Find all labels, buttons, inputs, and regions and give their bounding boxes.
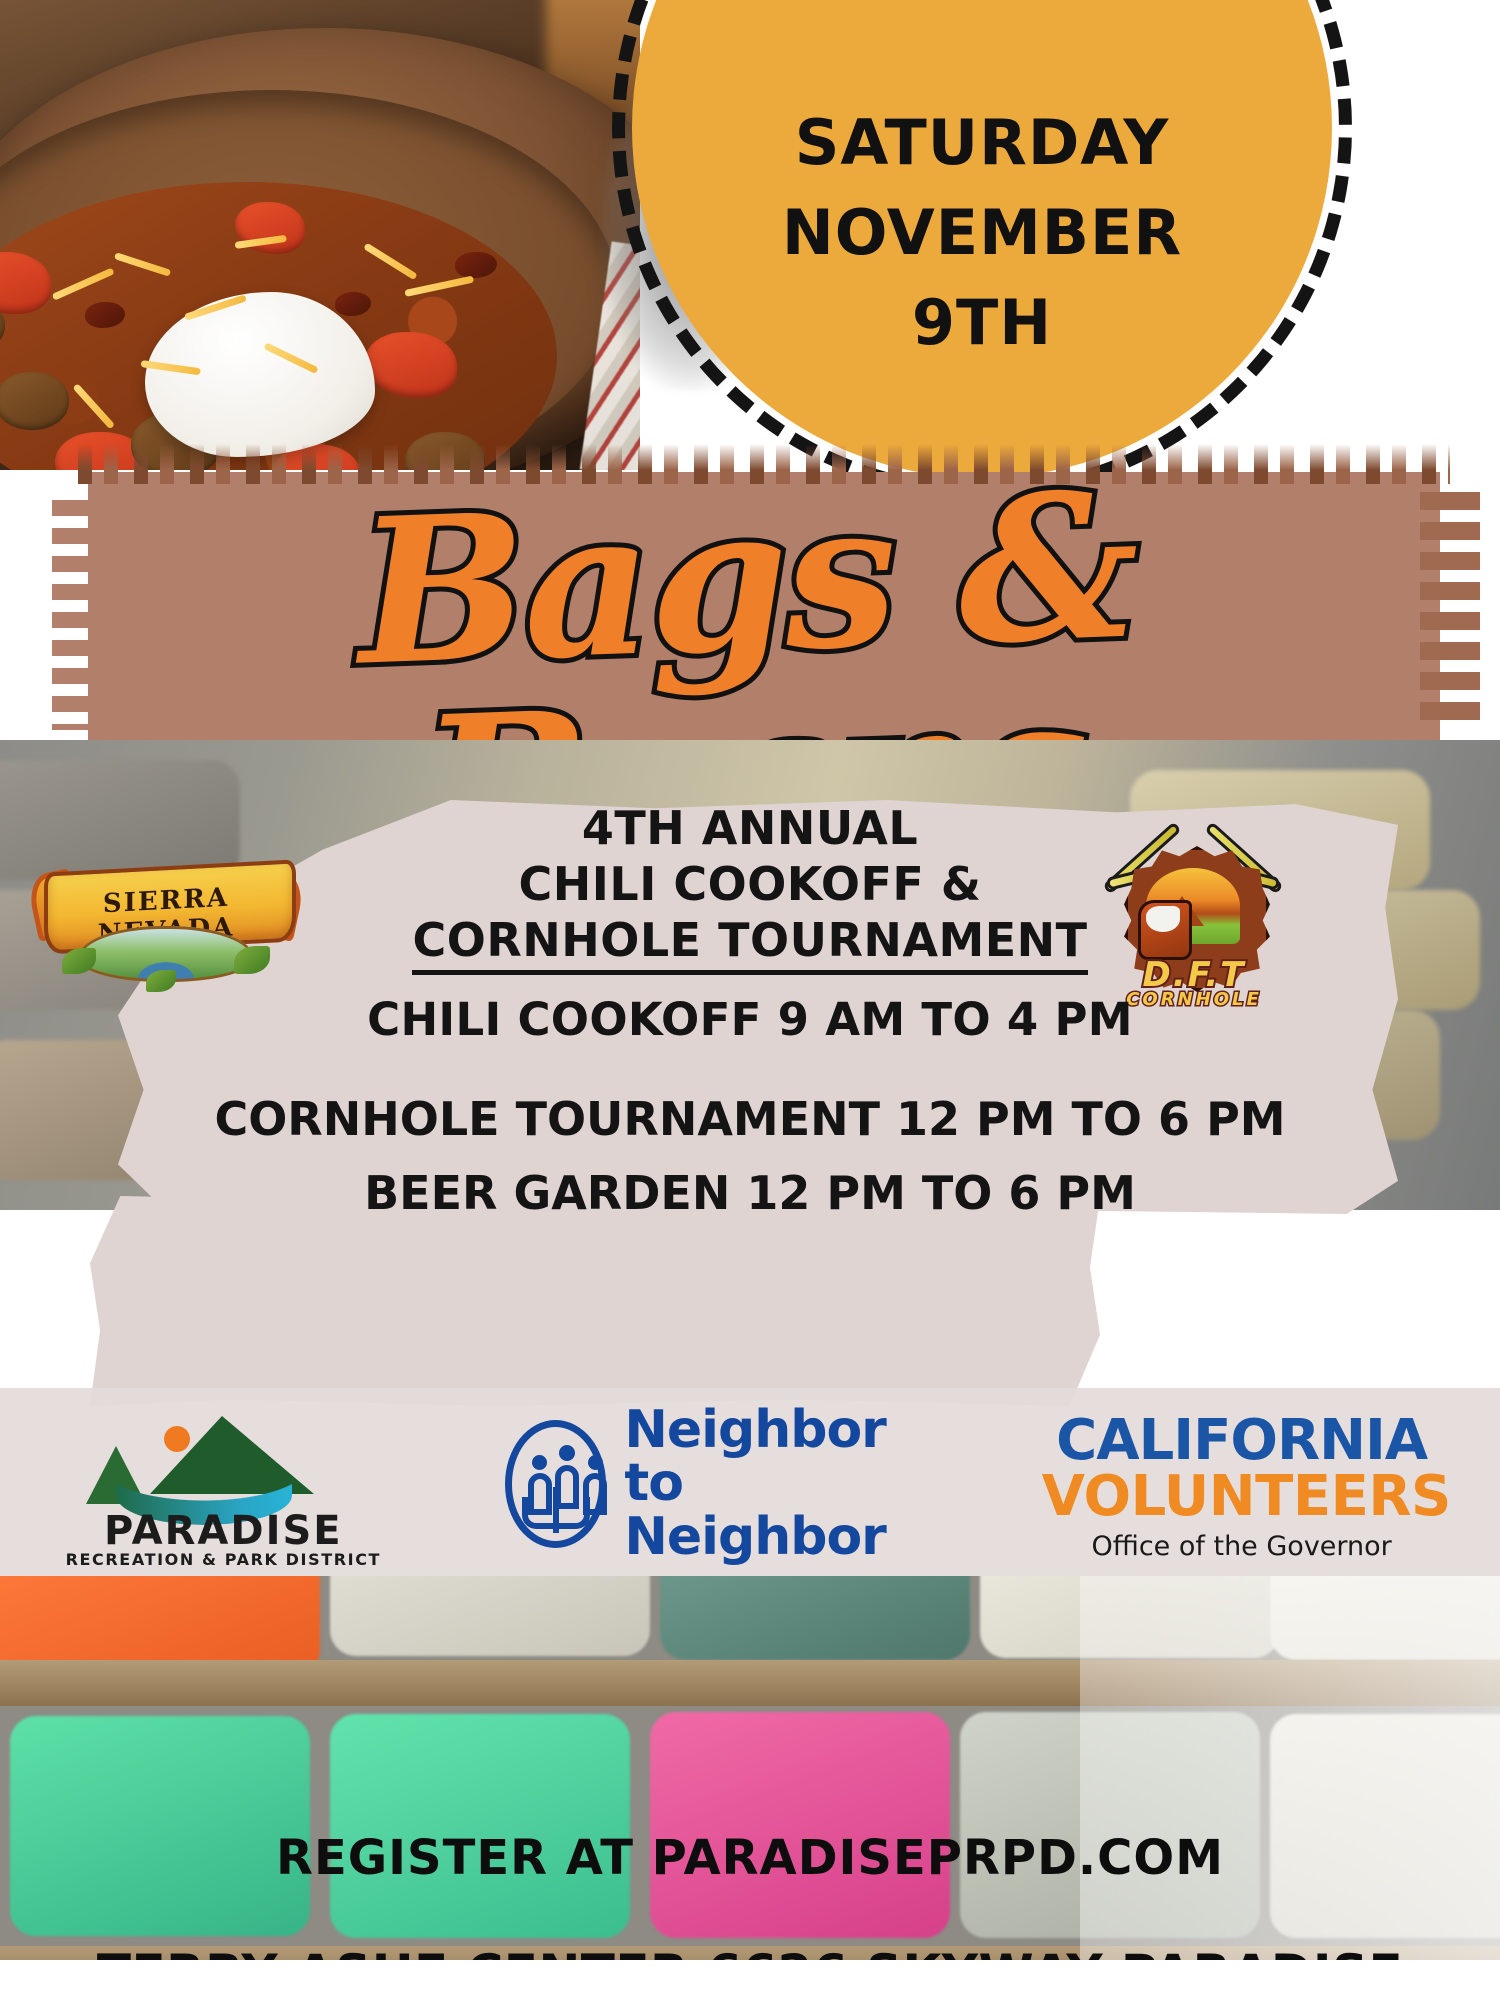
- paradise-subtitle: RECREATION & PARK DISTRICT: [58, 1550, 388, 1569]
- headline-cookoff: CHILI COOKOFF &: [0, 856, 1500, 912]
- event-details: 4TH ANNUAL CHILI COOKOFF & CORNHOLE TOUR…: [0, 800, 1500, 1230]
- paradise-recreation-logo: PARADISE RECREATION & PARK DISTRICT: [58, 1404, 388, 1564]
- schedule-chili: CHILI COOKOFF 9 AM TO 4 PM: [0, 985, 1500, 1055]
- register-line: REGISTER AT PARADISEPRPD.COM: [0, 1830, 1500, 1886]
- tree-roots: [522, 1497, 590, 1529]
- date-line-weekday: SATURDAY: [702, 98, 1262, 188]
- headline-annual: 4TH ANNUAL: [0, 800, 1500, 856]
- date-badge-text: SATURDAY NOVEMBER 9TH: [702, 98, 1262, 368]
- schedule-cornhole: CORNHOLE TOURNAMENT 12 PM TO 6 PM: [0, 1083, 1500, 1157]
- cv-california-word: CALIFORNIA: [1042, 1414, 1442, 1468]
- schedule-beer-garden: BEER GARDEN 12 PM TO 6 PM: [0, 1157, 1500, 1231]
- chili-bowl-photo: [0, 0, 700, 470]
- n2n-wordmark: Neighbor to Neighbor: [624, 1404, 925, 1563]
- n2n-line-1: Neighbor: [624, 1404, 925, 1457]
- cv-volunteers-word: VOLUNTEERS: [1042, 1470, 1442, 1525]
- neighbor-to-neighbor-logo: Neighbor to Neighbor: [505, 1419, 925, 1549]
- paradise-wordmark: PARADISE: [58, 1508, 388, 1554]
- bottom-white-strip: [0, 1960, 1500, 2000]
- cv-office-line: Office of the Governor: [1042, 1531, 1442, 1562]
- sour-cream-dollop: [145, 292, 375, 457]
- event-flyer: SATURDAY NOVEMBER 9TH Bags & Beans SIERR…: [0, 0, 1500, 2000]
- n2n-line-2: to Neighbor: [624, 1457, 925, 1563]
- people-tree-icon: [505, 1420, 606, 1548]
- california-volunteers-logo: CALIFORNIA VOLUNTEERS Office of the Gove…: [1042, 1414, 1442, 1554]
- date-line-month: NOVEMBER: [702, 188, 1262, 278]
- date-line-day: 9TH: [702, 278, 1262, 368]
- footer-text: REGISTER AT PARADISEPRPD.COM TERRY ASHE …: [0, 1600, 1500, 2000]
- headline-tournament: CORNHOLE TOURNAMENT: [412, 912, 1087, 975]
- sponsor-logo-row: PARADISE RECREATION & PARK DISTRICT Neig…: [0, 1390, 1500, 1578]
- bowl-rim: [0, 90, 617, 470]
- chili-contents: [0, 182, 557, 470]
